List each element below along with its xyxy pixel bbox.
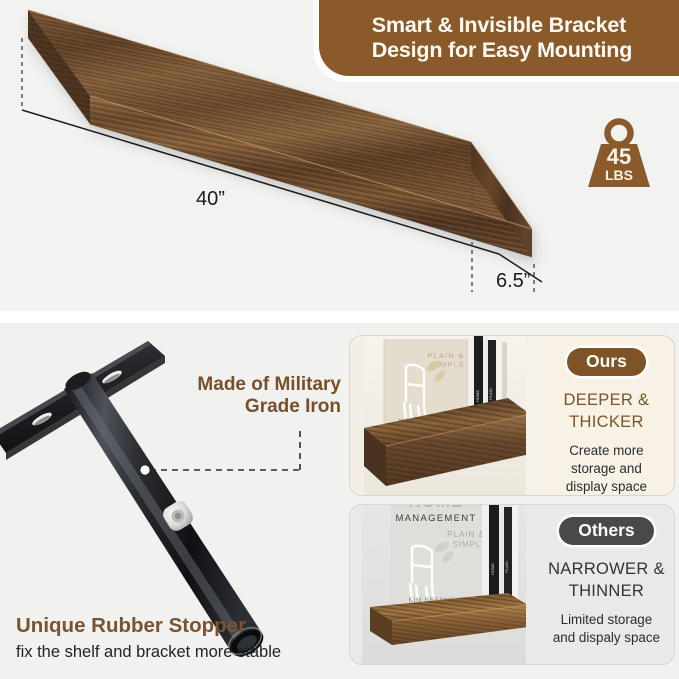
svg-text:HOME: HOME [475,390,480,402]
ours-headline-1: DEEPER & [563,390,649,411]
rubber-stopper-subtitle: fix the shelf and bracket more stable [16,643,356,663]
svg-text:PLAIN &: PLAIN & [427,351,464,360]
others-headline-1: NARROWER & [548,559,665,580]
header-text: Smart & Invisible Bracket Design for Eas… [358,13,640,63]
svg-text:MANAGEMENT: MANAGEMENT [395,513,476,524]
svg-text:HOME: HOME [409,505,464,511]
ours-text-block: Ours DEEPER & THICKER Create more storag… [539,336,674,495]
svg-text:HOME: HOME [490,563,495,575]
rubber-stopper-title: Unique Rubber Stopper [16,615,346,638]
ours-body: Create more storage and display space [539,442,674,495]
comparison-card-ours: PLAIN & SIMPLE [349,335,675,496]
others-text-block: Others NARROWER & THINNER Limited storag… [539,505,674,664]
ours-pill: Ours [567,348,646,376]
military-grade-title: Made of Military Grade Iron [156,374,341,419]
comparison-card-others: HOME MANAGEMENT PLAIN & SIMPLE [349,504,675,665]
ours-photo: PLAIN & SIMPLE [350,336,539,495]
ours-headline: DEEPER & THICKER [563,390,649,433]
ours-headline-2: THICKER [563,412,649,433]
weight-unit: LBS [580,168,658,182]
svg-text:PLAIN &: PLAIN & [447,530,485,539]
svg-text:PLAIN: PLAIN [504,561,509,573]
header-line-1: Smart & Invisible Bracket [372,13,632,38]
svg-text:PLAIN: PLAIN [488,388,493,400]
infographic-page: 40” 6.5” 45 LBS Smart & Invisible Bracke… [0,0,679,679]
military-grade-line-2: Grade Iron [156,396,341,418]
others-photo: HOME MANAGEMENT PLAIN & SIMPLE [350,505,539,664]
shelf-length-label: 40” [196,188,225,211]
others-headline-2: THINNER [548,581,665,602]
others-pill: Others [559,517,653,545]
header-line-2: Design for Easy Mounting [372,38,632,63]
weight-value: 45 [580,146,658,168]
weight-capacity-badge: 45 LBS [580,116,658,194]
top-panel: 40” 6.5” 45 LBS Smart & Invisible Bracke… [0,0,679,311]
others-headline: NARROWER & THINNER [548,559,665,602]
callout-pointer [140,431,300,475]
shelf-depth-label: 6.5” [496,270,530,293]
others-body: Limited storage and dispaly space [539,611,674,647]
panel-divider [0,311,679,323]
header-banner: Smart & Invisible Bracket Design for Eas… [319,0,679,76]
military-grade-line-1: Made of Military [156,374,341,396]
